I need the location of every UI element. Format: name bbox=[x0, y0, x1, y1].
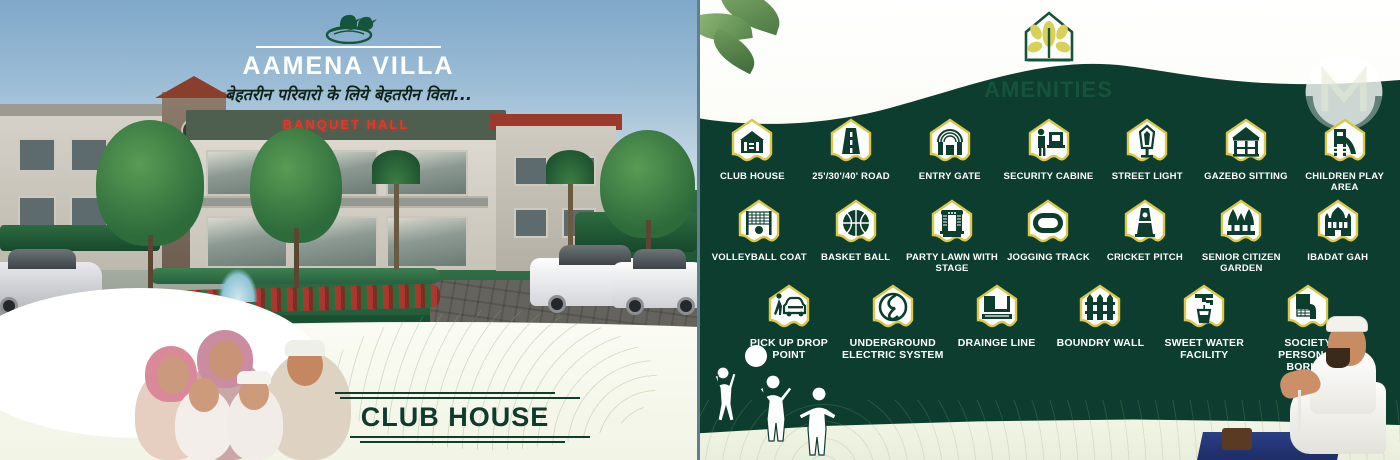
amenity-label: BASKET BALL bbox=[821, 252, 890, 263]
amenity-label: UNDERGROUND ELECTRIC SYSTEM bbox=[841, 337, 945, 361]
drainage-icon bbox=[974, 284, 1020, 332]
playground-slide-icon bbox=[1322, 118, 1368, 166]
amenity-ibadat-gah[interactable]: IBADAT GAH bbox=[1290, 199, 1386, 263]
muslim-family-photo bbox=[115, 320, 350, 460]
tree bbox=[96, 120, 204, 295]
banquet-hall-sign: BANQUET HALL bbox=[186, 114, 506, 136]
amenity-label: SENIOR CITIZEN GARDEN bbox=[1193, 252, 1289, 274]
birds-nest-logo bbox=[314, 4, 384, 44]
boundary-fence-icon bbox=[1077, 284, 1123, 332]
gazebo-icon bbox=[1223, 118, 1269, 166]
senior-garden-icon bbox=[1218, 199, 1264, 247]
amenity-label: VOLLEYBALL COAT bbox=[712, 252, 807, 263]
window bbox=[18, 138, 56, 172]
children-silhouettes bbox=[701, 365, 861, 460]
villa-tagline: बेहतरीन परिवारो के लिये बेहतरीन विला... bbox=[0, 83, 697, 105]
right-panel-amenities: AMENITIES bbox=[697, 0, 1400, 460]
title-rule bbox=[256, 46, 441, 48]
face bbox=[157, 356, 189, 394]
prayer-cap bbox=[237, 371, 271, 384]
amenity-club-house[interactable]: CLUB HOUSE bbox=[703, 118, 802, 182]
security-cabine-icon bbox=[1026, 118, 1072, 166]
amenity-label: ENTRY GATE bbox=[919, 171, 981, 182]
volleyball-net-icon bbox=[736, 199, 782, 247]
party-stage-icon bbox=[929, 199, 975, 247]
water-tap-icon bbox=[1181, 284, 1227, 332]
road-icon bbox=[828, 118, 874, 166]
parked-car bbox=[612, 262, 697, 308]
villa-logo-block: AAMENA VILLA बेहतरीन परिवारो के लिये बेह… bbox=[0, 0, 697, 105]
villa-name: AAMENA VILLA bbox=[0, 52, 697, 81]
brochure-page: BANQUET HALL bbox=[0, 0, 1400, 460]
amenity-label: IBADAT GAH bbox=[1307, 252, 1368, 263]
person-body bbox=[1276, 329, 1386, 454]
white-circle-decoration bbox=[745, 345, 767, 367]
amenity-label: CRICKET PITCH bbox=[1107, 252, 1183, 263]
amenity-underground-electric-system[interactable]: UNDERGROUND ELECTRIC SYSTEM bbox=[841, 284, 945, 361]
amenities-row-2: VOLLEYBALL COAT BASKET BALL bbox=[697, 193, 1400, 274]
amenity-volleyball-coat[interactable]: VOLLEYBALL COAT bbox=[711, 199, 807, 263]
amenity-party-lawn-with-stage[interactable]: PARTY LAWN WITH STAGE bbox=[904, 199, 1000, 274]
panel-divider bbox=[697, 0, 700, 460]
amenity-gazebo[interactable]: GAZEBO SITTING bbox=[1197, 118, 1296, 182]
clubhouse-caption-block: CLUB HOUSE bbox=[330, 389, 580, 446]
prayer-cap bbox=[285, 340, 325, 356]
house-leaf-logo bbox=[1016, 8, 1082, 70]
caption-rules-top bbox=[330, 392, 580, 399]
amenity-entry-gate[interactable]: ENTRY GATE bbox=[900, 118, 999, 182]
street-light-icon bbox=[1124, 118, 1170, 166]
amenity-basket-ball[interactable]: BASKET BALL bbox=[807, 199, 903, 263]
amenities-header: AMENITIES bbox=[697, 8, 1400, 103]
amenity-label: CHILDREN PLAY AREA bbox=[1295, 171, 1394, 193]
amenity-boundry-wall[interactable]: BOUNDRY WALL bbox=[1049, 284, 1153, 349]
amenity-road[interactable]: 25'/30'/40' ROAD bbox=[802, 118, 901, 182]
amenity-label: 25'/30'/40' ROAD bbox=[812, 171, 890, 182]
amenity-label: CLUB HOUSE bbox=[720, 171, 785, 182]
electric-bolt-icon bbox=[870, 284, 916, 332]
page-title: CLUB HOUSE bbox=[330, 402, 580, 433]
praying-man-photo bbox=[1225, 300, 1400, 460]
balcony-rail bbox=[196, 196, 488, 208]
amenity-jogging-track[interactable]: JOGGING TRACK bbox=[1000, 199, 1096, 263]
amenity-cricket-pitch[interactable]: CRICKET PITCH bbox=[1097, 199, 1193, 263]
tree bbox=[250, 128, 342, 288]
jogging-track-icon bbox=[1025, 199, 1071, 247]
face bbox=[189, 378, 219, 412]
palm-tree bbox=[366, 150, 426, 270]
amenity-label: JOGGING TRACK bbox=[1007, 252, 1090, 263]
amenity-label: PARTY LAWN WITH STAGE bbox=[904, 252, 1000, 274]
amenity-label: GAZEBO SITTING bbox=[1204, 171, 1288, 182]
amenity-label: BOUNDRY WALL bbox=[1057, 337, 1145, 349]
entry-gate-icon bbox=[927, 118, 973, 166]
basketball-icon bbox=[833, 199, 879, 247]
amenity-senior-citizen-garden[interactable]: SENIOR CITIZEN GARDEN bbox=[1193, 199, 1289, 274]
amenity-security-cabine[interactable]: SECURITY CABINE bbox=[999, 118, 1098, 182]
left-panel-clubhouse: BANQUET HALL bbox=[0, 0, 697, 460]
quran-stand bbox=[1222, 428, 1252, 450]
amenity-label: DRAINGE LINE bbox=[958, 337, 1036, 349]
amenities-title: AMENITIES bbox=[697, 77, 1400, 103]
caption-rules-bottom bbox=[330, 436, 580, 443]
amenity-drainge-line[interactable]: DRAINGE LINE bbox=[945, 284, 1049, 349]
amenities-row-1: CLUB HOUSE 25'/30'/40' ROAD bbox=[697, 118, 1400, 193]
mosque-icon bbox=[1315, 199, 1361, 247]
club-house-icon bbox=[729, 118, 775, 166]
amenity-label: SECURITY CABINE bbox=[1004, 171, 1094, 182]
pickup-drop-icon bbox=[766, 284, 812, 332]
cricket-icon bbox=[1122, 199, 1168, 247]
amenity-street-light[interactable]: STREET LIGHT bbox=[1098, 118, 1197, 182]
amenity-children-play-area[interactable]: CHILDREN PLAY AREA bbox=[1295, 118, 1394, 193]
amenity-label: STREET LIGHT bbox=[1112, 171, 1183, 182]
